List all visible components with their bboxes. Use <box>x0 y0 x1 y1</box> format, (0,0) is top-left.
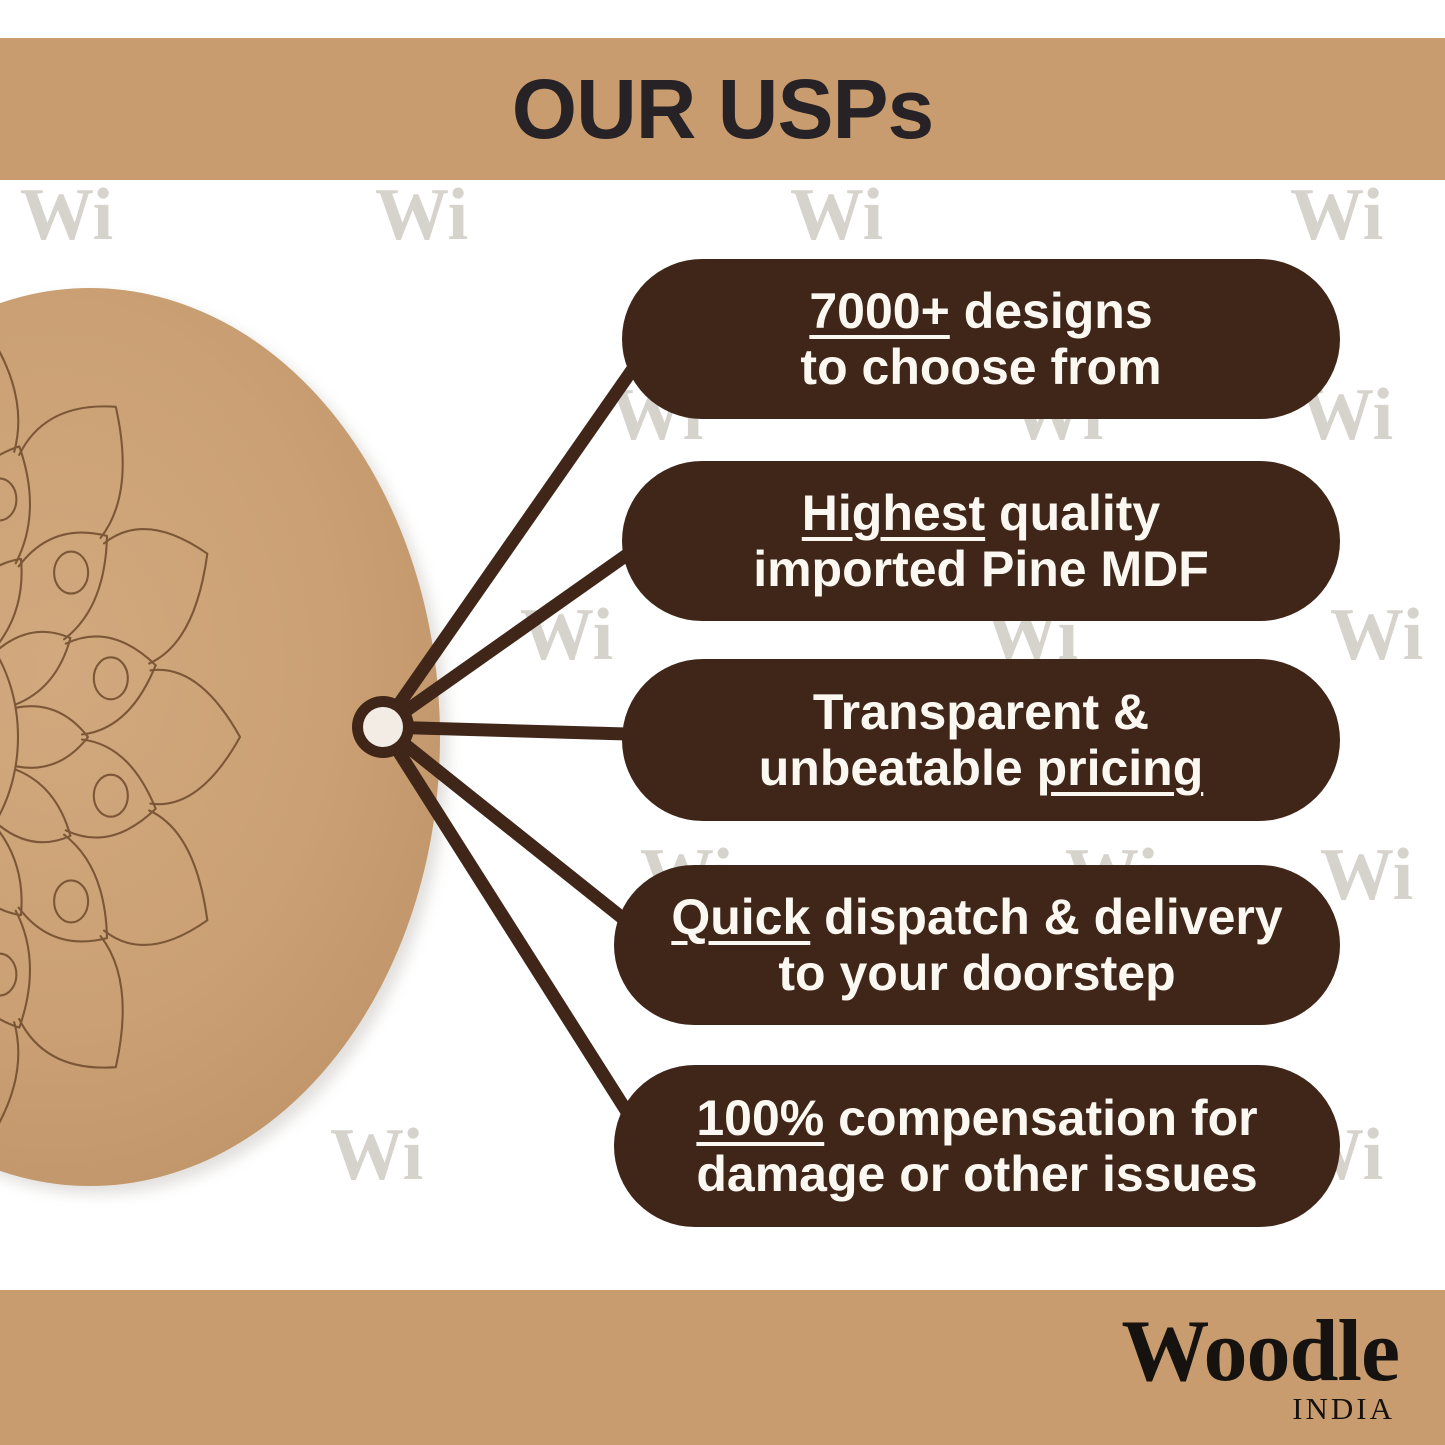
watermark-wi: Wi <box>1290 178 1383 252</box>
usp-highlight: pricing <box>1037 740 1204 796</box>
infographic-canvas: WiWiWiWiWiWiWiWiWiWiWiWiWiWiWiWiWiWiWiWi <box>0 0 1445 1445</box>
watermark-wi: Wi <box>520 598 613 672</box>
usp-highlight: 100% <box>696 1090 824 1146</box>
watermark-wi: Wi <box>20 178 113 252</box>
usp-pill-designs[interactable]: 7000+ designs to choose from <box>622 259 1340 419</box>
brand-logo: Woodle INDIA <box>1121 1312 1399 1423</box>
usp-pill-dispatch[interactable]: Quick dispatch & delivery to your doorst… <box>614 865 1340 1025</box>
usp-line: Transparent & <box>813 684 1149 741</box>
usp-line: Highest quality <box>802 485 1160 542</box>
footer-banner: Woodle INDIA <box>0 1290 1445 1445</box>
usp-line: 100% compensation for <box>696 1090 1257 1147</box>
watermark-wi: Wi <box>1330 598 1423 672</box>
header-banner: OUR USPs <box>0 38 1445 180</box>
usp-highlight: Highest <box>802 485 985 541</box>
usp-pill-pricing[interactable]: Transparent & unbeatable pricing <box>622 659 1340 821</box>
usp-pill-quality[interactable]: Highest quality imported Pine MDF <box>622 461 1340 621</box>
usp-line: unbeatable pricing <box>759 740 1204 797</box>
disc-artwork <box>0 288 440 1186</box>
usp-highlight: Quick <box>671 889 810 945</box>
usp-line: to your doorstep <box>778 945 1175 1002</box>
logo-wordmark: Woodle <box>1121 1312 1399 1393</box>
usp-line: to choose from <box>800 339 1161 396</box>
usp-line: damage or other issues <box>696 1146 1257 1203</box>
usp-line: 7000+ designs <box>809 283 1152 340</box>
mandala-mdf-disc <box>0 288 440 1186</box>
watermark-wi: Wi <box>375 178 468 252</box>
watermark-wi: Wi <box>790 178 883 252</box>
usp-line: imported Pine MDF <box>753 541 1209 598</box>
usp-line: Quick dispatch & delivery <box>671 889 1282 946</box>
usp-highlight: 7000+ <box>809 283 949 339</box>
page-title: OUR USPs <box>0 38 1445 180</box>
usp-pill-compensation[interactable]: 100% compensation for damage or other is… <box>614 1065 1340 1227</box>
watermark-wi: Wi <box>1320 838 1413 912</box>
